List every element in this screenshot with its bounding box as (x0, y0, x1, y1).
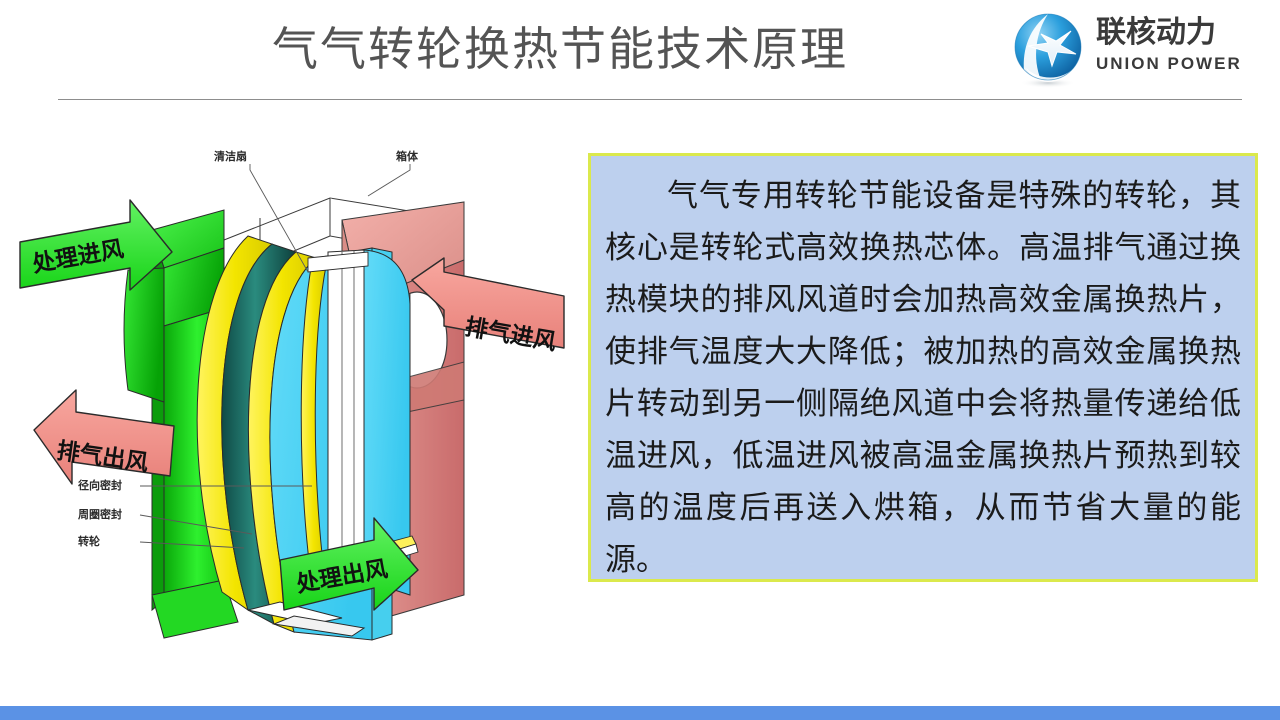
logo-text-block: 联核动力 UNION POWER (1096, 16, 1256, 74)
callout-label-circumference-seal: 周圈密封 (78, 507, 122, 521)
callout-label-cabinet: 箱体 (396, 149, 419, 163)
logo-name-en: UNION POWER (1096, 54, 1256, 74)
callout-label-clean-fan: 清洁扇 (214, 149, 247, 163)
slide-header: 气气转轮换热节能技术原理 (0, 0, 1280, 104)
callout-label-radial-seal: 径向密封 (78, 478, 122, 492)
page-title: 气气转轮换热节能技术原理 (150, 18, 970, 80)
header-divider (58, 99, 1242, 100)
callout-label-rotor: 转轮 (78, 534, 100, 548)
description-body-text: 气气专用转轮节能设备是特殊的转轮，其核心是转轮式高效换热芯体。高温排气通过换热模… (591, 156, 1255, 586)
rotary-heat-exchanger-diagram: 清洁扇 箱体 径向密封 周圈密封 转轮 处理进风 排气进风 排气出风 处理出风 (12, 140, 572, 665)
brand-logo: 联核动力 UNION POWER (1008, 8, 1256, 94)
description-panel: 气气专用转轮节能设备是特殊的转轮，其核心是转轮式高效换热芯体。高温排气通过换热模… (588, 153, 1258, 582)
union-power-globe-icon (1008, 10, 1088, 90)
footer-bar (0, 706, 1280, 720)
logo-name-cn: 联核动力 (1096, 16, 1256, 50)
diagram-svg: 清洁扇 箱体 径向密封 周圈密封 转轮 处理进风 排气进风 排气出风 处理出风 (12, 140, 572, 665)
